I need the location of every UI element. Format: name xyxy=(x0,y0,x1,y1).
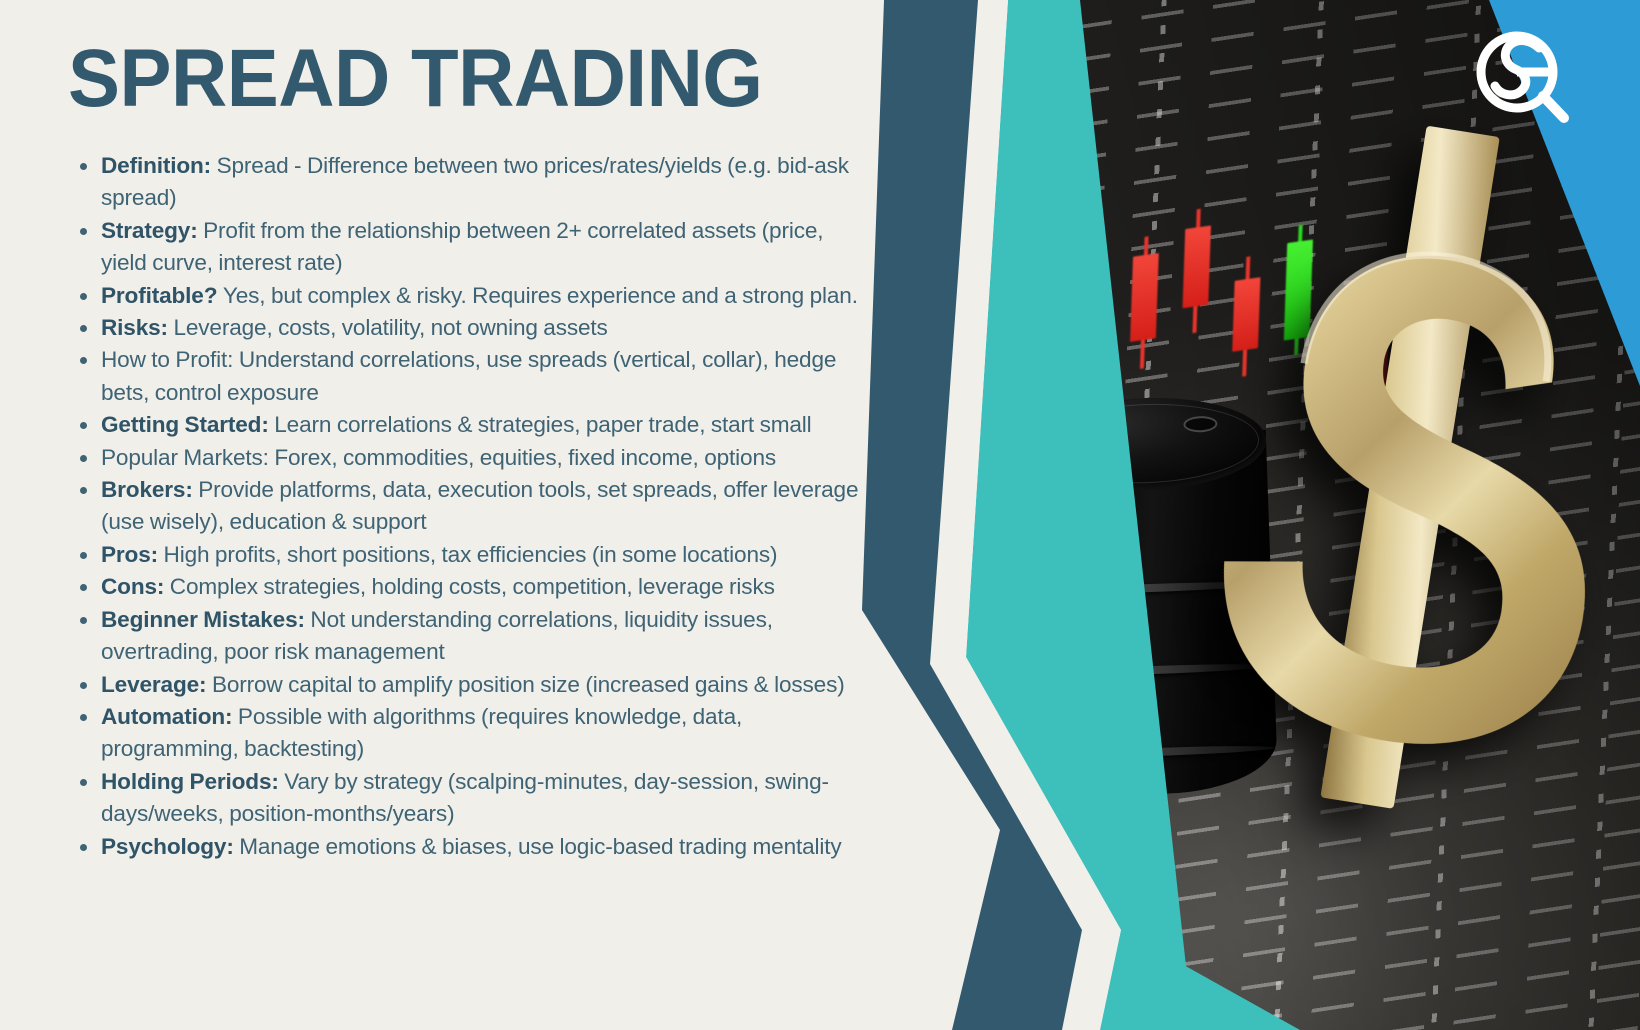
bullet-item: Psychology: Manage emotions & biases, us… xyxy=(68,831,868,863)
bullet-label: Leverage: xyxy=(101,672,212,697)
bullet-label: Holding Periods: xyxy=(101,769,284,794)
candlestick-body xyxy=(1182,226,1211,309)
bullet-label: Automation: xyxy=(101,704,238,729)
candlestick-body xyxy=(1130,253,1159,342)
bullet-item: Brokers: Provide platforms, data, execut… xyxy=(68,474,868,539)
bullet-text: Complex strategies, holding costs, compe… xyxy=(170,574,775,599)
bullet-label: Cons: xyxy=(101,574,170,599)
bullet-text: Learn correlations & strategies, paper t… xyxy=(274,412,811,437)
bullet-text: Yes, but complex & risky. Requires exper… xyxy=(223,283,858,308)
bullet-list: Definition: Spread - Difference between … xyxy=(68,150,868,863)
bullet-text: Leverage, costs, volatility, not owning … xyxy=(173,315,607,340)
bullet-item: Profitable? Yes, but complex & risky. Re… xyxy=(68,280,868,312)
bullet-item: Getting Started: Learn correlations & st… xyxy=(68,409,868,441)
bullet-text: Forex, commodities, equities, fixed inco… xyxy=(274,445,776,470)
bullet-item: How to Profit: Understand correlations, … xyxy=(68,344,868,409)
bullet-item: Strategy: Profit from the relationship b… xyxy=(68,215,868,280)
bullet-label: Getting Started: xyxy=(101,412,274,437)
bullet-item: Cons: Complex strategies, holding costs,… xyxy=(68,571,868,603)
bullet-label: Brokers: xyxy=(101,477,198,502)
bullet-text: Borrow capital to amplify position size … xyxy=(212,672,845,697)
bullet-label: Profitable? xyxy=(101,283,223,308)
bullet-label: Psychology: xyxy=(101,834,239,859)
bullet-item: Automation: Possible with algorithms (re… xyxy=(68,701,868,766)
bullet-text: High profits, short positions, tax effic… xyxy=(164,542,778,567)
bullet-label: Popular Markets: xyxy=(101,445,274,470)
sq-magnifier-logo xyxy=(1469,26,1573,130)
bullet-label: Strategy: xyxy=(101,218,203,243)
bullet-item: Holding Periods: Vary by strategy (scalp… xyxy=(68,766,868,831)
page-title: SPREAD TRADING xyxy=(68,38,858,120)
bullet-label: Pros: xyxy=(101,542,164,567)
bullet-item: Risks: Leverage, costs, volatility, not … xyxy=(68,312,868,344)
bullet-label: Beginner Mistakes: xyxy=(101,607,310,632)
bullet-item: Definition: Spread - Difference between … xyxy=(68,150,868,215)
bullet-label: Definition: xyxy=(101,153,217,178)
bullet-text: Profit from the relationship between 2+ … xyxy=(101,218,823,275)
bullet-item: Pros: High profits, short positions, tax… xyxy=(68,539,868,571)
bullet-text: Provide platforms, data, execution tools… xyxy=(101,477,858,534)
bullet-label: Risks: xyxy=(101,315,173,340)
bullet-item: Popular Markets: Forex, commodities, equ… xyxy=(68,442,868,474)
bullet-label: How to Profit: xyxy=(101,347,239,372)
bullet-text: Manage emotions & biases, use logic-base… xyxy=(239,834,841,859)
bullet-item: Beginner Mistakes: Not understanding cor… xyxy=(68,604,868,669)
bullet-item: Leverage: Borrow capital to amplify posi… xyxy=(68,669,868,701)
text-content-column: SPREAD TRADING Definition: Spread - Diff… xyxy=(0,0,900,1030)
infographic-poster: SPREAD TRADING Definition: Spread - Diff… xyxy=(0,0,1640,1030)
